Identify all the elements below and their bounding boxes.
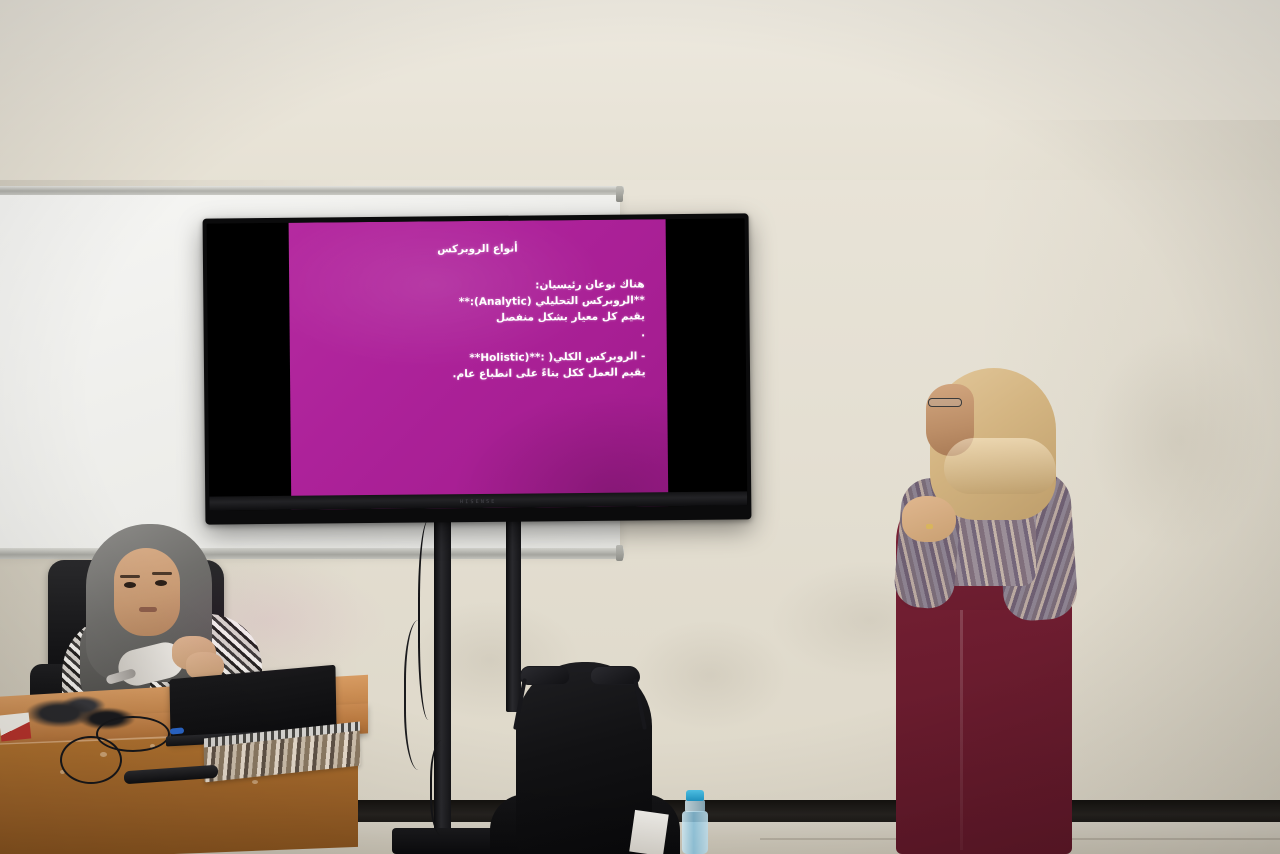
foreground-attendee-head (516, 662, 652, 854)
presentation-slide: أنواع الروبركس هناك نوعان رئيسيان: **الر… (288, 219, 668, 510)
wall-stain (1090, 330, 1270, 550)
sunglasses-lens-right (590, 666, 640, 685)
slide-line-analytic-heading: **الروبركس التحليلي (Analytic):** (309, 294, 645, 312)
sunglasses-lens-left (520, 666, 570, 685)
whiteboard-top-rail (0, 186, 624, 195)
water-bottle[interactable] (680, 790, 710, 854)
television[interactable]: أنواع الروبركس هناك نوعان رئيسيان: **الر… (203, 213, 752, 524)
classroom-scene: أنواع الروبركس هناك نوعان رئيسيان: **الر… (0, 0, 1280, 854)
tv-bottom-bezel: HISENSE (209, 491, 747, 510)
water-bottle-body (682, 811, 708, 854)
wall-stain (630, 620, 790, 730)
seated-woman-eyebrow (152, 572, 172, 575)
seated-woman-face (114, 548, 180, 636)
slide-line-intro: هناك نوعان رئيسيان: (309, 277, 645, 295)
seated-woman-eye (124, 582, 136, 588)
cable-loop (96, 716, 170, 752)
tv-brand-logo: HISENSE (460, 499, 497, 505)
seated-woman-mouth (139, 607, 157, 612)
tv-stand-post-right (506, 512, 521, 712)
tv-screen-panel[interactable]: أنواع الروبركس هناك نوعان رئيسيان: **الر… (207, 218, 748, 510)
slide-title: أنواع الروبركس (309, 241, 647, 256)
water-bottle-cap[interactable] (686, 790, 704, 801)
eyeglasses-icon (928, 398, 962, 407)
water-bottle-neck (685, 800, 705, 812)
red-paper-scrap (0, 713, 31, 742)
whiteboard-clip (616, 545, 623, 561)
desk-speckle (252, 780, 258, 784)
seated-woman-eye (155, 580, 167, 586)
presenter-hijab-fold (944, 438, 1056, 494)
slide-line-holistic-detail: يقيم العمل ككل بناءً على انطباع عام. (310, 365, 646, 383)
slide-line-analytic-detail: يقيم كل معيار بشكل منفصل (309, 310, 645, 328)
presenter-clasped-hands (902, 496, 956, 542)
cable-slack-loop (430, 740, 460, 836)
attendee-paper (629, 810, 669, 854)
sunglasses-icon (520, 664, 642, 686)
slide-body: هناك نوعان رئيسيان: **الروبركس التحليلي … (309, 277, 648, 384)
sunglasses-bridge (570, 668, 592, 672)
seated-woman-eyebrow (120, 575, 140, 578)
slide-line-separator: . (309, 326, 645, 344)
presenter-ring (926, 524, 933, 529)
slide-line-holistic-heading: - الروبركس الكلي( :**(Holistic** (310, 349, 646, 367)
whiteboard-clip (616, 186, 623, 202)
